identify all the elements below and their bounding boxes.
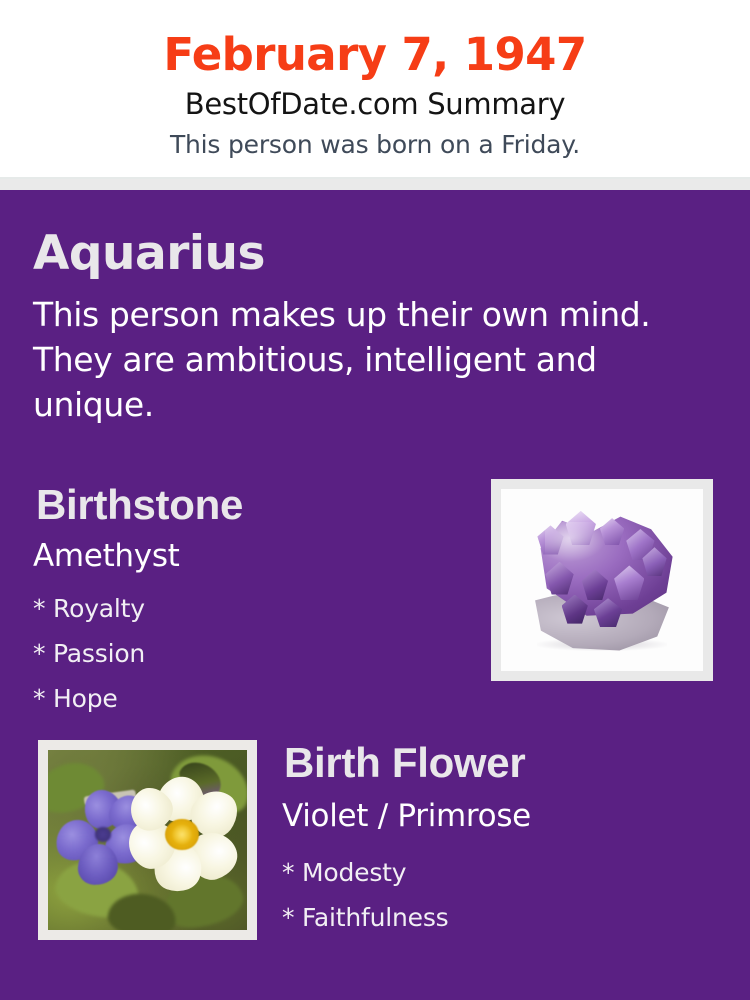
amethyst-image — [501, 489, 703, 671]
birthstone-trait-list: * Royalty * Passion * Hope — [33, 586, 453, 721]
birth-flower-image-frame — [38, 740, 257, 940]
list-item: * Modesty — [282, 850, 702, 895]
birthstone-name: Amethyst — [33, 536, 180, 576]
list-item: * Faithfulness — [282, 895, 702, 940]
zodiac-description: This person makes up their own mind. The… — [33, 292, 688, 427]
list-item: * Hope — [33, 676, 453, 721]
list-item: * Royalty — [33, 586, 453, 631]
amethyst-highlight — [545, 522, 606, 562]
violet-center — [95, 827, 111, 841]
birth-flower-heading: Birth Flower — [284, 738, 525, 788]
born-day-text: This person was born on a Friday. — [0, 128, 750, 162]
page-title-date: February 7, 1947 — [0, 26, 750, 84]
birth-flower-trait-list: * Modesty * Faithfulness — [282, 850, 702, 940]
list-item: * Passion — [33, 631, 453, 676]
primrose-center — [165, 819, 198, 850]
header-divider-hairline — [0, 177, 750, 179]
birth-flower-name: Violet / Primrose — [282, 796, 531, 836]
summary-card: February 7, 1947 BestOfDate.com Summary … — [0, 0, 750, 1000]
birthstone-image-frame — [491, 479, 713, 681]
site-summary-subtitle: BestOfDate.com Summary — [0, 86, 750, 122]
violet-primrose-image — [48, 750, 247, 930]
zodiac-sign-heading: Aquarius — [33, 225, 265, 283]
birthstone-heading: Birthstone — [36, 480, 243, 530]
header: February 7, 1947 BestOfDate.com Summary … — [0, 0, 750, 177]
primrose-flower — [128, 779, 239, 891]
